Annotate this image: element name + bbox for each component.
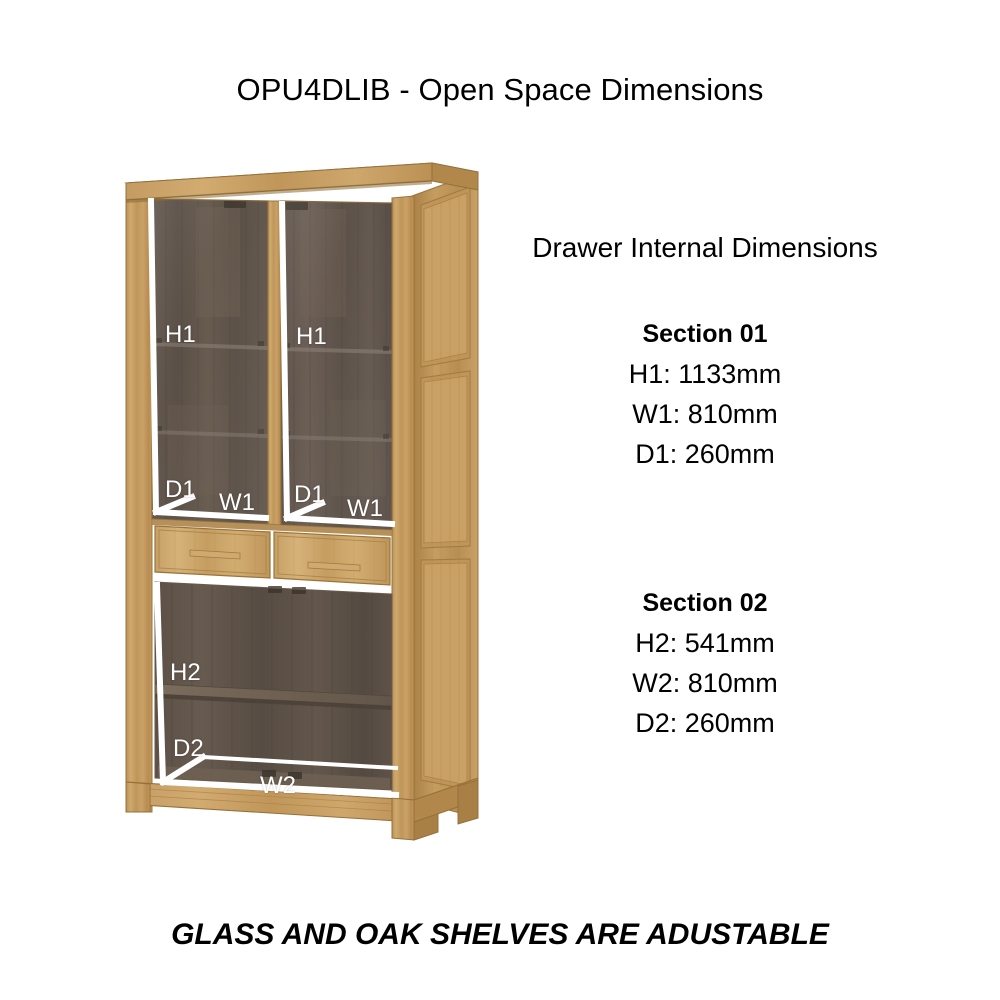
diagram-page: OPU4DLIB - Open Space Dimensions [0,0,1000,1000]
cornice [126,163,478,203]
dim-label-w1-right: W1 [347,495,383,523]
open-shelf-lower [158,766,390,790]
footer-caption: GLASS AND OAK SHELVES ARE ADUSTABLE [0,918,1000,952]
plinth-and-feet [126,778,478,840]
right-glass-door [281,201,392,530]
h2-line [157,585,163,782]
h1-left-line [151,201,156,512]
d1-right-line [287,503,322,518]
section-02-depth: D2: 260mm [495,703,915,743]
w1-right-line [287,518,392,524]
side-panel [412,172,478,818]
dim-label-h1-right: H1 [296,323,327,351]
section-02-height: H2: 541mm [495,623,915,663]
dim-label-w1-left: W1 [219,489,255,517]
cabinet-front-frame [126,192,414,812]
spec-panel-heading: Drawer Internal Dimensions [495,232,915,264]
section-02-title: Section 02 [495,589,915,618]
section-02-width: W2: 810mm [495,663,915,703]
open-shelf-section [155,582,392,790]
section-01-depth: D1: 260mm [495,434,915,474]
drawer-bank [152,519,392,585]
dim-label-h1-left: H1 [165,321,196,349]
w2-back-line [203,757,396,768]
section-01-height: H1: 1133mm [495,354,915,394]
page-title: OPU4DLIB - Open Space Dimensions [0,72,1000,108]
section-01-width: W1: 810mm [495,394,915,434]
w1-left-line [156,512,266,518]
drawer-handle [190,550,240,559]
specifications-panel: Drawer Internal Dimensions Section 01 H1… [495,232,915,743]
dim-label-w2: W2 [260,772,296,800]
dimension-lines [151,201,396,795]
w2-line [163,782,396,795]
plinth-rail [126,782,414,822]
dim-label-d1-left: D1 [165,476,196,504]
h1-right-line [282,204,287,518]
drawer-handle [308,562,360,571]
left-glass-door [152,199,268,524]
dim-label-d1-right: D1 [294,481,325,509]
section-01: Section 01 H1: 1133mm W1: 810mm D1: 260m… [495,320,915,474]
dim-label-h2: H2 [170,659,201,687]
d2-line [163,757,203,782]
right-foot [392,798,414,840]
section-01-title: Section 01 [495,320,915,349]
center-stile [268,201,281,525]
d1-left-line [156,497,192,512]
open-shelf-upper [155,684,392,706]
left-drawer [155,526,270,578]
left-foot [126,782,150,812]
section-02: Section 02 H2: 541mm W2: 810mm D2: 260mm [495,589,915,743]
right-drawer [274,532,390,585]
dim-label-d2: D2 [173,735,204,763]
